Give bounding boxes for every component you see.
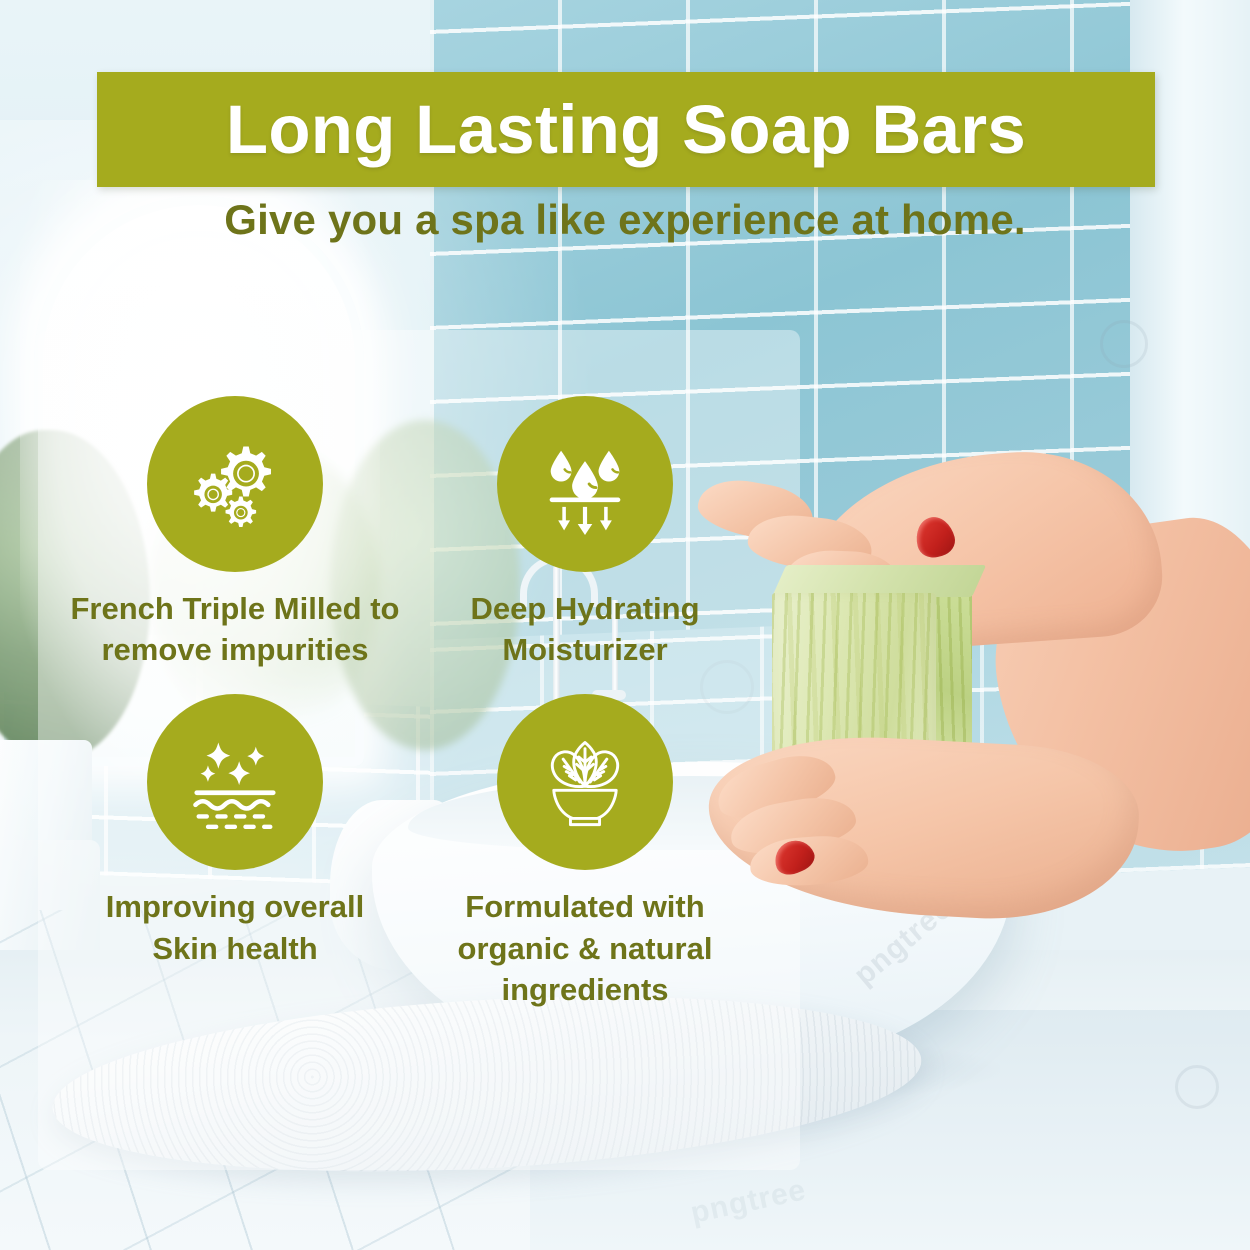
infographic-canvas: pngtree pngtree Long Lasting Soap Bars G… [0,0,1250,1250]
sparkling-skin-layers-icon [147,694,323,870]
feature-grid: French Triple Milled to remove impuritie… [60,396,760,1010]
feature-item-french-triple-milled: French Triple Milled to remove impuritie… [60,396,410,670]
feature-label: French Triple Milled to remove impuritie… [70,588,400,670]
title-banner: Long Lasting Soap Bars [97,72,1155,187]
gears-icon [147,396,323,572]
feature-row-1: French Triple Milled to remove impuritie… [60,396,760,670]
hands-holding-soap [690,455,1250,885]
feature-label: Improving overall Skin health [70,886,400,968]
water-droplets-absorption-icon [497,396,673,572]
feature-item-improving-skin-health: Improving overall Skin health [60,694,410,1010]
feature-label: Formulated with organic & natural ingred… [420,886,750,1010]
page-subtitle: Give you a spa like experience at home. [0,196,1250,244]
feature-row-2: Improving overall Skin health [60,694,760,1010]
leaves-in-bowl-icon [497,694,673,870]
page-title: Long Lasting Soap Bars [226,95,1026,164]
